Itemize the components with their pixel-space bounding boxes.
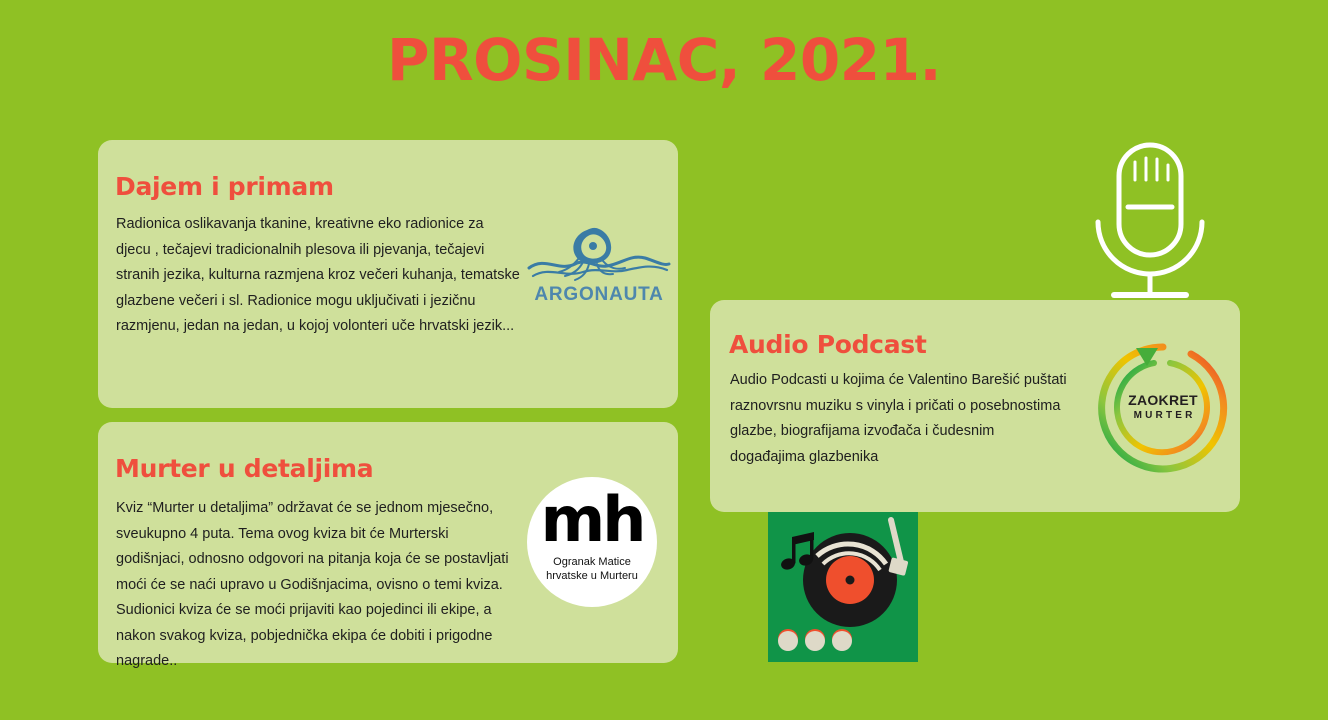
slide-canvas: PROSINAC, 2021. Dajem i primam Radionica… xyxy=(0,0,1328,720)
zaokret-murter-logo: ZAOKRET MURTER xyxy=(1098,343,1228,473)
mh-monogram: mh xyxy=(527,489,657,551)
card-body: Radionica oslikavanja tkanine, kreativne… xyxy=(116,212,521,340)
zaokret-wordmark: ZAOKRET xyxy=(1098,392,1228,408)
turntable-glyph xyxy=(768,512,918,662)
matica-hrvatska-logo: mh Ogranak Matice hrvatske u Murteru xyxy=(527,477,657,607)
page-title: PROSINAC, 2021. xyxy=(0,26,1328,94)
zaokret-subtitle: MURTER xyxy=(1098,410,1228,421)
zaokret-ring-icon xyxy=(1098,343,1228,473)
card-title: Dajem i primam xyxy=(115,172,334,201)
record-spindle xyxy=(846,576,855,585)
card-title: Audio Podcast xyxy=(729,330,927,359)
card-body: Audio Podcasti u kojima će Valentino Bar… xyxy=(730,368,1070,470)
mh-caption: Ogranak Matice hrvatske u Murteru xyxy=(535,555,649,583)
argonauta-nautilus-icon xyxy=(525,222,673,284)
microphone-glyph xyxy=(1088,140,1212,305)
turntable-icon xyxy=(768,512,918,662)
mh-caption-line1: Ogranak Matice xyxy=(535,555,649,569)
argonauta-logo: ARGONAUTA xyxy=(525,222,673,318)
turntable-knobs xyxy=(778,629,852,651)
card-body: Kviz “Murter u detaljima” održavat će se… xyxy=(116,496,511,675)
mh-caption-line2: hrvatske u Murteru xyxy=(535,569,649,583)
argonauta-wordmark: ARGONAUTA xyxy=(525,284,673,306)
card-title: Murter u detaljima xyxy=(115,454,373,483)
microphone-icon xyxy=(1088,140,1212,305)
